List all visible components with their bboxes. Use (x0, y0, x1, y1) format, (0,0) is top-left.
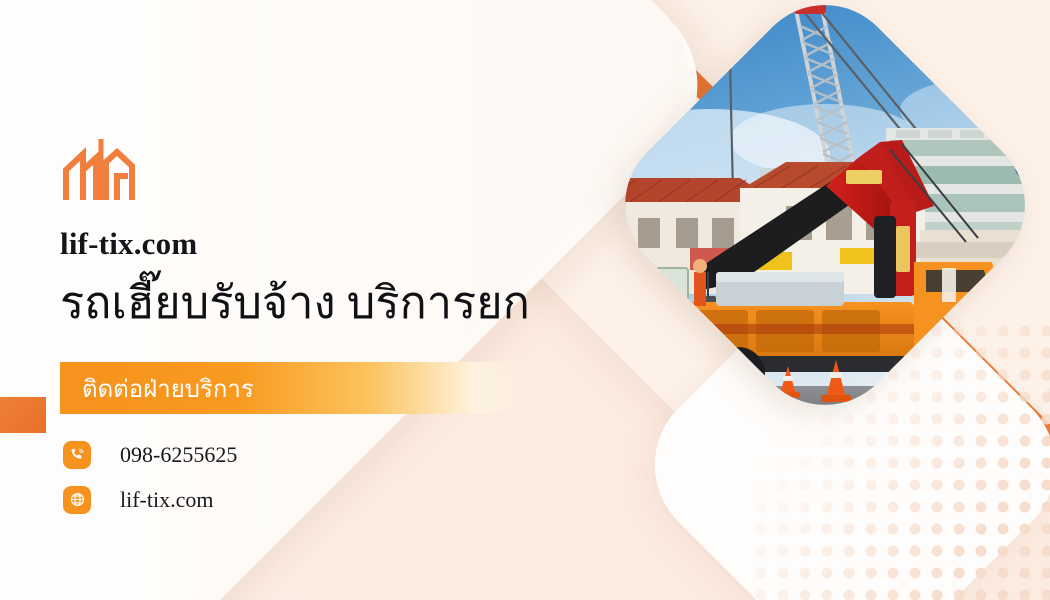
brand-name: lif-tix.com (60, 226, 197, 262)
orange-stripe-nub (0, 397, 46, 433)
contact-website-row[interactable]: lif-tix.com (63, 477, 483, 522)
website-url: lif-tix.com (120, 487, 213, 513)
page-title: รถเฮี๊ยบรับจ้าง บริการยก (60, 278, 530, 328)
contact-service-label: ติดต่อฝ่ายบริการ (60, 369, 254, 408)
globe-icon (63, 486, 91, 514)
phone-icon (63, 441, 91, 469)
content-column: lif-tix.com รถเฮี๊ยบรับจ้าง บริการยก ติด… (60, 0, 680, 600)
building-logo-icon (62, 136, 136, 202)
contact-list: 098-6255625 lif-tix.com (63, 432, 483, 522)
promotional-banner: lif-tix.com รถเฮี๊ยบรับจ้าง บริการยก ติด… (0, 0, 1050, 600)
contact-service-banner[interactable]: ติดต่อฝ่ายบริการ (60, 362, 530, 414)
phone-number: 098-6255625 (120, 442, 237, 468)
contact-phone-row[interactable]: 098-6255625 (63, 432, 483, 477)
